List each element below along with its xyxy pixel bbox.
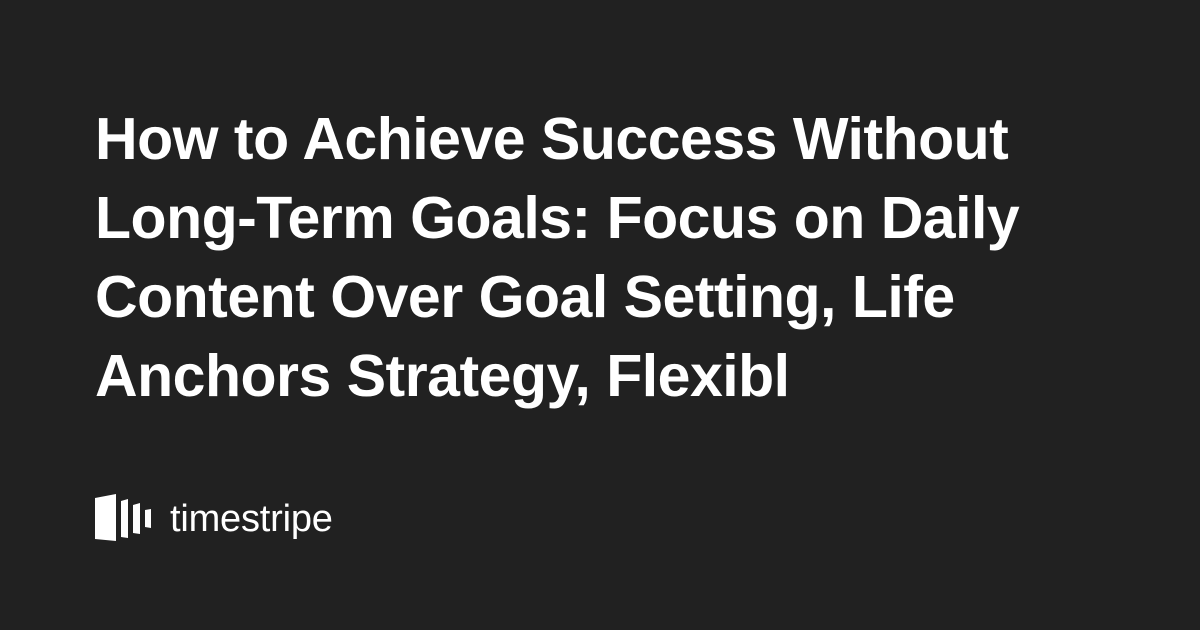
timestripe-bars-icon [95, 494, 153, 541]
headline-line-3: Content Over Goal Setting, Life [95, 258, 1035, 337]
page-title: How to Achieve Success Without Long-Term… [95, 100, 1035, 416]
headline-line-2: Long-Term Goals: Focus on Daily [95, 179, 1035, 258]
brand-lockup: timestripe [95, 494, 333, 541]
brand-name: timestripe [170, 500, 333, 538]
headline-line-4: Anchors Strategy, Flexibl [95, 337, 1035, 416]
share-card: How to Achieve Success Without Long-Term… [0, 0, 1200, 630]
headline-line-1: How to Achieve Success Without [95, 100, 1035, 179]
